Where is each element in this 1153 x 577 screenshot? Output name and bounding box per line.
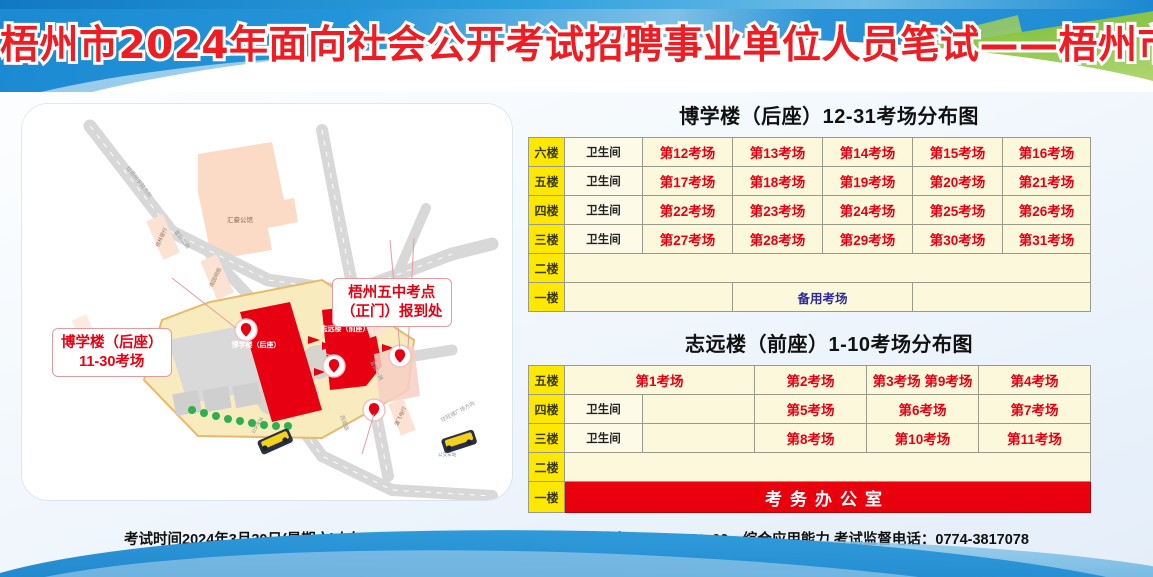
callout-gate-line1: 梧州五中考点 <box>341 284 443 303</box>
table-row: 一楼 备用考场 <box>529 283 1091 312</box>
room-cell: 第31考场 <box>1003 225 1091 254</box>
floor-label: 四楼 <box>529 196 565 225</box>
callout-main-gate: 梧州五中考点 （正门）报到处 <box>332 278 452 327</box>
map-marker-gate-b <box>363 399 385 421</box>
room-cell: 第23考场 <box>733 196 823 225</box>
table-row: 五楼 第1考场 第2考场 第3考场 第9考场 第4考场 <box>529 366 1091 395</box>
table-row: 四楼 卫生间 第22考场 第23考场 第24考场 第25考场 第26考场 <box>529 196 1091 225</box>
spare-room-cell: 备用考场 <box>733 283 913 312</box>
empty-cell <box>913 283 1091 312</box>
table-boxue-distribution: 六楼 卫生间 第12考场 第13考场 第14考场 第15考场 第16考场 五楼 … <box>528 137 1091 312</box>
map-building-label-zhiyuan: 志远楼（前座） <box>318 326 372 335</box>
map-marker-zhiyuan <box>323 355 345 377</box>
room-cell: 第28考场 <box>733 225 823 254</box>
restroom-cell: 卫生间 <box>565 138 643 167</box>
floor-label: 一楼 <box>529 283 565 312</box>
room-cell: 第22考场 <box>643 196 733 225</box>
empty-cell <box>643 424 755 453</box>
footer-wave-decoration <box>0 517 1153 577</box>
room-cell: 第6考场 <box>867 395 979 424</box>
table-row: 三楼 卫生间 第27考场 第28考场 第29考场 第30考场 第31考场 <box>529 225 1091 254</box>
page-title: 梧州市2024年面向社会公开考试招聘事业单位人员笔试——梧州市第五中学考点 <box>0 24 1153 68</box>
table-row: 一楼 考务办公室 <box>529 482 1091 513</box>
room-cell: 第8考场 <box>755 424 867 453</box>
room-cell: 第12考场 <box>643 138 733 167</box>
svg-text:公交车站: 公交车站 <box>438 451 457 458</box>
room-cell: 第3考场 第9考场 <box>867 366 979 395</box>
room-cell: 第21考场 <box>1003 167 1091 196</box>
table-row: 五楼 卫生间 第17考场 第18考场 第19考场 第20考场 第21考场 <box>529 167 1091 196</box>
room-cell: 第29考场 <box>823 225 913 254</box>
callout-boxue-line1: 博学楼（后座） <box>61 334 163 353</box>
room-cell: 第7考场 <box>979 395 1091 424</box>
floor-label: 三楼 <box>529 424 565 453</box>
location-map-card: 梧州五中方位图 汇豪公馆 <box>22 104 512 500</box>
floor-label: 六楼 <box>529 138 565 167</box>
table-row: 六楼 卫生间 第12考场 第13考场 第14考场 第15考场 第16考场 <box>529 138 1091 167</box>
restroom-cell: 卫生间 <box>565 225 643 254</box>
table2-title: 志远楼（前座）1-10考场分布图 <box>520 328 1130 357</box>
callout-boxue-line2: 11-30考场 <box>61 353 163 372</box>
table-row: 四楼 卫生间 第5考场 第6考场 第7考场 <box>529 395 1091 424</box>
room-cell: 第18考场 <box>733 167 823 196</box>
room-cell: 第25考场 <box>913 196 1003 225</box>
restroom-cell: 卫生间 <box>565 167 643 196</box>
poster-page: 梧州市2024年面向社会公开考试招聘事业单位人员笔试——梧州市第五中学考点 梧州… <box>0 0 1153 577</box>
room-cell: 第2考场 <box>755 366 867 395</box>
exam-office-cell: 考务办公室 <box>565 482 1091 513</box>
room-cell: 第1考场 <box>565 366 755 395</box>
map-label-huihao: 汇豪公馆 <box>227 215 254 224</box>
restroom-cell: 卫生间 <box>565 395 643 424</box>
map-marker-boxue <box>235 319 257 341</box>
table-spacer <box>520 312 1130 328</box>
room-cell: 第15考场 <box>913 138 1003 167</box>
callout-boxue-building: 博学楼（后座） 11-30考场 <box>52 328 172 377</box>
empty-cell <box>643 395 755 424</box>
room-cell: 第30考场 <box>913 225 1003 254</box>
table-row: 二楼 <box>529 254 1091 283</box>
floor-label: 五楼 <box>529 167 565 196</box>
room-cell: 第24考场 <box>823 196 913 225</box>
floor-label: 五楼 <box>529 366 565 395</box>
callout-gate-line2: （正门）报到处 <box>341 303 443 322</box>
room-cell: 第20考场 <box>913 167 1003 196</box>
restroom-cell: 卫生间 <box>565 424 643 453</box>
floor-label: 二楼 <box>529 453 565 482</box>
room-cell: 第4考场 <box>979 366 1091 395</box>
empty-cell <box>565 254 1091 283</box>
room-cell: 第26考场 <box>1003 196 1091 225</box>
room-cell: 第13考场 <box>733 138 823 167</box>
room-cell: 第16考场 <box>1003 138 1091 167</box>
table-row: 三楼 卫生间 第8考场 第10考场 第11考场 <box>529 424 1091 453</box>
room-cell: 第17考场 <box>643 167 733 196</box>
restroom-cell: 卫生间 <box>565 196 643 225</box>
banner-top-strip <box>0 0 1153 9</box>
table1-title: 博学楼（后座）12-31考场分布图 <box>520 100 1130 129</box>
table-row: 二楼 <box>529 453 1091 482</box>
room-cell: 第19考场 <box>823 167 913 196</box>
room-cell: 第5考场 <box>755 395 867 424</box>
floor-label: 三楼 <box>529 225 565 254</box>
room-cell: 第27考场 <box>643 225 733 254</box>
map-building-label-boxue: 博学楼（后座） <box>228 342 284 351</box>
floor-label: 一楼 <box>529 482 565 513</box>
room-cell: 第14考场 <box>823 138 913 167</box>
table-zhiyuan-distribution: 五楼 第1考场 第2考场 第3考场 第9考场 第4考场 四楼 卫生间 第5考场 … <box>528 365 1091 513</box>
room-cell: 第10考场 <box>867 424 979 453</box>
room-distribution-panel: 博学楼（后座）12-31考场分布图 六楼 卫生间 第12考场 第13考场 第14… <box>520 100 1130 513</box>
empty-cell <box>565 283 733 312</box>
floor-label: 二楼 <box>529 254 565 283</box>
empty-cell <box>565 453 1091 482</box>
floor-label: 四楼 <box>529 395 565 424</box>
room-cell: 第11考场 <box>979 424 1091 453</box>
